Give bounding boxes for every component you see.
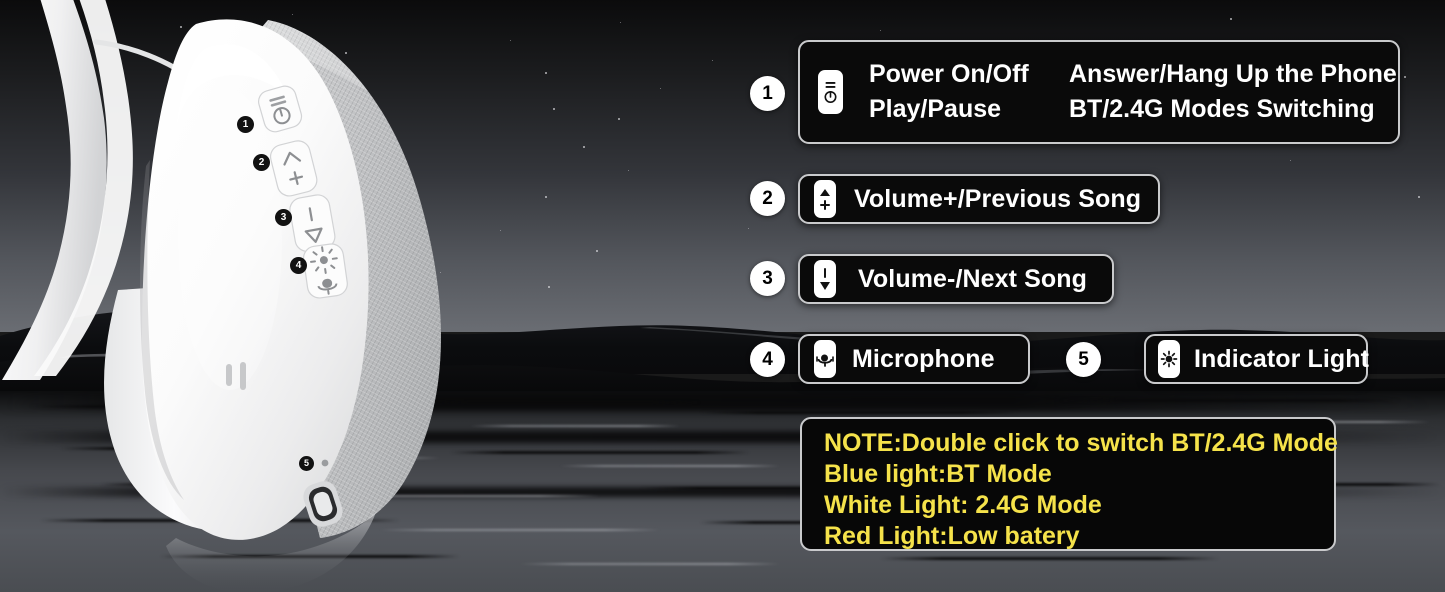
callout-panel-3[interactable]: Volume-/Next Song [798, 254, 1114, 304]
function-power-onoff: Power On/Off [869, 60, 1069, 89]
callout-panel-5[interactable]: Indicator Light [1144, 334, 1368, 384]
callout-4-label: Microphone [852, 345, 995, 374]
volume-up-icon [814, 180, 836, 218]
product-marker-2: 2 [253, 154, 270, 171]
callout-badge-5: 5 [1066, 342, 1101, 377]
note-line-2: Blue light:BT Mode [824, 459, 1334, 490]
function-bt-24g-switch: BT/2.4G Modes Switching [1069, 95, 1397, 124]
note-box: NOTE:Double click to switch BT/2.4G Mode… [800, 417, 1336, 551]
callout-badge-2: 2 [750, 181, 785, 216]
microphone-icon [814, 340, 836, 378]
button-microphone [302, 242, 349, 299]
product-marker-5: 5 [299, 456, 314, 471]
vent-slot [226, 364, 232, 386]
note-line-1: NOTE:Double click to switch BT/2.4G Mode [824, 428, 1334, 459]
callout-panel-4[interactable]: Microphone [798, 334, 1030, 384]
callout-3-label: Volume-/Next Song [858, 265, 1087, 294]
power-button-icon [818, 70, 843, 114]
callout-1-functions: Power On/Off Answer/Hang Up the Phone Pl… [869, 60, 1397, 124]
callout-badge-3: 3 [750, 261, 785, 296]
callout-badge-4: 4 [750, 342, 785, 377]
callout-2-label: Volume+/Previous Song [854, 185, 1141, 214]
led-indicator [322, 460, 329, 467]
note-line-3: White Light: 2.4G Mode [824, 490, 1334, 521]
vent-slot [240, 362, 246, 390]
callout-panel-2[interactable]: Volume+/Previous Song [798, 174, 1160, 224]
note-line-4: Red Light:Low batery [824, 521, 1334, 552]
callout-5-label: Indicator Light [1194, 345, 1369, 374]
infographic-canvas: 1 2 3 4 5 1 Power On/Off Answer/Hang Up … [0, 0, 1445, 592]
product-marker-1: 1 [237, 116, 254, 133]
function-play-pause: Play/Pause [869, 95, 1069, 124]
product-marker-4: 4 [290, 257, 307, 274]
function-answer-hangup: Answer/Hang Up the Phone [1069, 60, 1397, 89]
product-marker-3: 3 [275, 209, 292, 226]
headphone-product-photo: 1 2 3 4 5 [0, 0, 500, 592]
indicator-light-icon [1158, 340, 1180, 378]
callout-panel-1[interactable]: Power On/Off Answer/Hang Up the Phone Pl… [798, 40, 1400, 144]
headband [2, 0, 107, 380]
callout-badge-1: 1 [750, 76, 785, 111]
volume-down-icon [814, 260, 836, 298]
